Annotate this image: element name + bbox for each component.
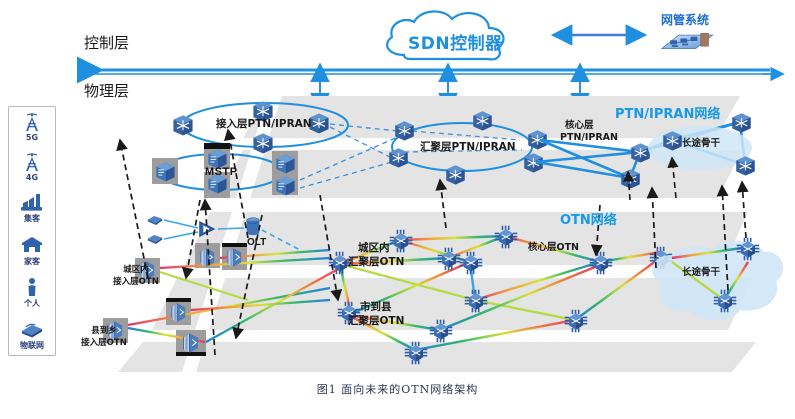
ptn-core-label-line1: 核心层	[565, 121, 594, 131]
access-type-legend: 5G 4G 集客	[8, 106, 56, 356]
mstp-label: MSTP	[205, 167, 238, 178]
legend-label-4g: 4G	[26, 173, 38, 182]
otn-backbone-label: 长途骨干	[682, 268, 720, 278]
urban-agg-otn-line2: 汇聚层OTN	[348, 257, 404, 268]
county-access-otn-line2: 接入层OTN	[64, 339, 144, 348]
county-access-otn-line1: 县到乡	[74, 327, 134, 336]
legend-item-enterprise[interactable]: 集客	[9, 191, 55, 224]
legend-item-4g[interactable]: 4G	[9, 151, 55, 182]
ptn-ipran-network-title: PTN/IPRAN网络	[615, 108, 720, 121]
legend-label-5g: 5G	[26, 133, 38, 142]
control-layer-label: 控制层	[84, 36, 129, 51]
physical-layer-label: 物理层	[84, 84, 129, 99]
legend-item-5g[interactable]: 5G	[9, 111, 55, 142]
urban-access-otn-line1: 城区内	[106, 266, 166, 275]
ptn-access-ring-label: 接入层PTN/IPRAN	[216, 119, 312, 130]
iot-gateway-icon	[19, 318, 45, 340]
legend-label-enterprise: 集客	[24, 213, 40, 224]
person-icon	[19, 276, 45, 298]
legend-item-iot[interactable]: 物联网	[9, 318, 55, 351]
sdn-controller-label: SDN控制器	[408, 36, 503, 53]
ptn-agg-ring-label: 汇聚层PTN/IPRAN	[420, 142, 516, 153]
figure-canvas: 控制层 物理层 SDN控制器 网管系统 PTN/IPRAN网络 接入层PTN/I…	[0, 0, 795, 419]
cell-tower-4g-icon	[19, 151, 45, 173]
urban-access-otn-line2: 接入层OTN	[96, 278, 176, 287]
control-bus	[80, 70, 772, 74]
legend-item-home[interactable]: 家客	[9, 234, 55, 267]
core-otn-label: 核心层OTN	[528, 243, 579, 253]
home-icon	[19, 234, 45, 256]
city-county-agg-otn-line1: 市到县	[360, 302, 392, 313]
otn-network-title: OTN网络	[560, 214, 617, 227]
figure-caption: 图1 面向未来的OTN网络架构	[0, 381, 795, 397]
nms-label: 网管系统	[661, 14, 709, 26]
enterprise-building-icon	[19, 191, 45, 213]
legend-label-home: 家客	[24, 256, 40, 267]
cell-tower-5g-icon	[19, 111, 45, 133]
legend-label-iot: 物联网	[20, 340, 44, 351]
ptn-backbone-label: 长途骨干	[682, 139, 720, 149]
olt-label: OLT	[247, 238, 266, 248]
network-architecture-diagram	[0, 0, 795, 419]
mstp-top-bar	[204, 143, 230, 149]
legend-label-individual: 个人	[24, 298, 40, 309]
nms-icon[interactable]	[662, 33, 713, 48]
ptn-core-label-line2: PTN/IPRAN	[560, 133, 618, 143]
city-county-agg-otn-line2: 汇聚层OTN	[348, 316, 404, 327]
plane-link-arrows	[320, 80, 580, 95]
legend-item-individual[interactable]: 个人	[9, 276, 55, 309]
urban-agg-otn-line1: 城区内	[358, 243, 390, 254]
